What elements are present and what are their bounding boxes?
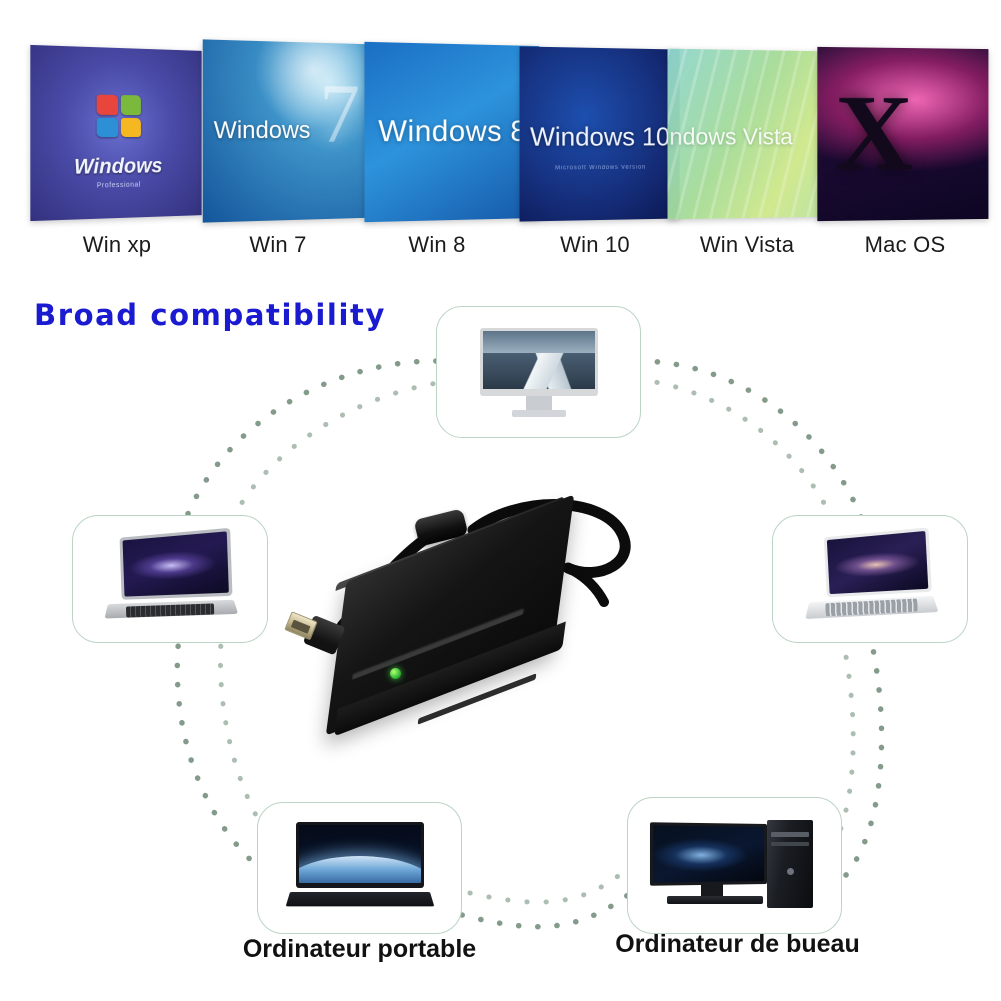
caption-laptop: Ordinateur portable	[207, 935, 512, 964]
os-screen-title-xp: Windows	[74, 155, 162, 180]
imac-desktop-icon	[480, 328, 598, 417]
os-compatibility-banner: Windows Professional 7 Windows Windows 8…	[0, 0, 1001, 275]
desktop-pc-icon	[651, 820, 819, 912]
os-panel-win-7: 7 Windows	[203, 39, 377, 222]
activity-led-icon	[390, 668, 401, 679]
os-screen-title-w7: Windows	[214, 117, 311, 146]
windows-flag-icon	[97, 95, 141, 137]
macbook-pro-icon	[106, 534, 235, 624]
dark-laptop-icon	[290, 822, 430, 914]
os-panel-win-xp: Windows Professional	[30, 45, 201, 221]
compatibility-diagram: Ordinateur portable Ordinateur de bueau	[0, 275, 1001, 1001]
os-panel-mac-os: X	[817, 47, 988, 221]
mac-os-x-icon: X	[835, 90, 913, 177]
device-box-macbook[interactable]	[72, 515, 268, 643]
os-label-win-xp: Win xp	[32, 232, 202, 258]
os-screen-title-w10: Windows 10	[530, 122, 670, 153]
os-panel-win-10: Windows 10 Microsoft Windows Version	[520, 46, 680, 221]
windows-7-icon: 7	[319, 71, 360, 156]
device-box-imac[interactable]	[436, 306, 641, 438]
os-panel-win-vista: indows Vista	[667, 49, 825, 220]
caption-desktop: Ordinateur de bueau	[585, 930, 890, 959]
os-label-mac-os: Mac OS	[820, 232, 990, 258]
os-screen-subtitle-w10: Microsoft Windows Version	[555, 165, 646, 172]
white-netbook-icon	[806, 532, 934, 626]
device-box-desktop-pc[interactable]	[627, 797, 842, 934]
os-screen-subtitle-xp: Professional	[97, 182, 141, 190]
usb-floppy-drive-product	[268, 490, 688, 790]
os-screen-title-w8: Windows 8	[378, 115, 527, 150]
device-box-laptop[interactable]	[257, 802, 462, 934]
os-label-win-7: Win 7	[193, 232, 363, 258]
os-label-win-vista: Win Vista	[662, 232, 832, 258]
os-label-win-8: Win 8	[352, 232, 522, 258]
os-screen-title-vista: indows Vista	[667, 124, 792, 151]
os-label-win-10: Win 10	[510, 232, 680, 258]
os-panel-win-8: Windows 8	[364, 42, 539, 222]
device-box-netbook[interactable]	[772, 515, 968, 643]
